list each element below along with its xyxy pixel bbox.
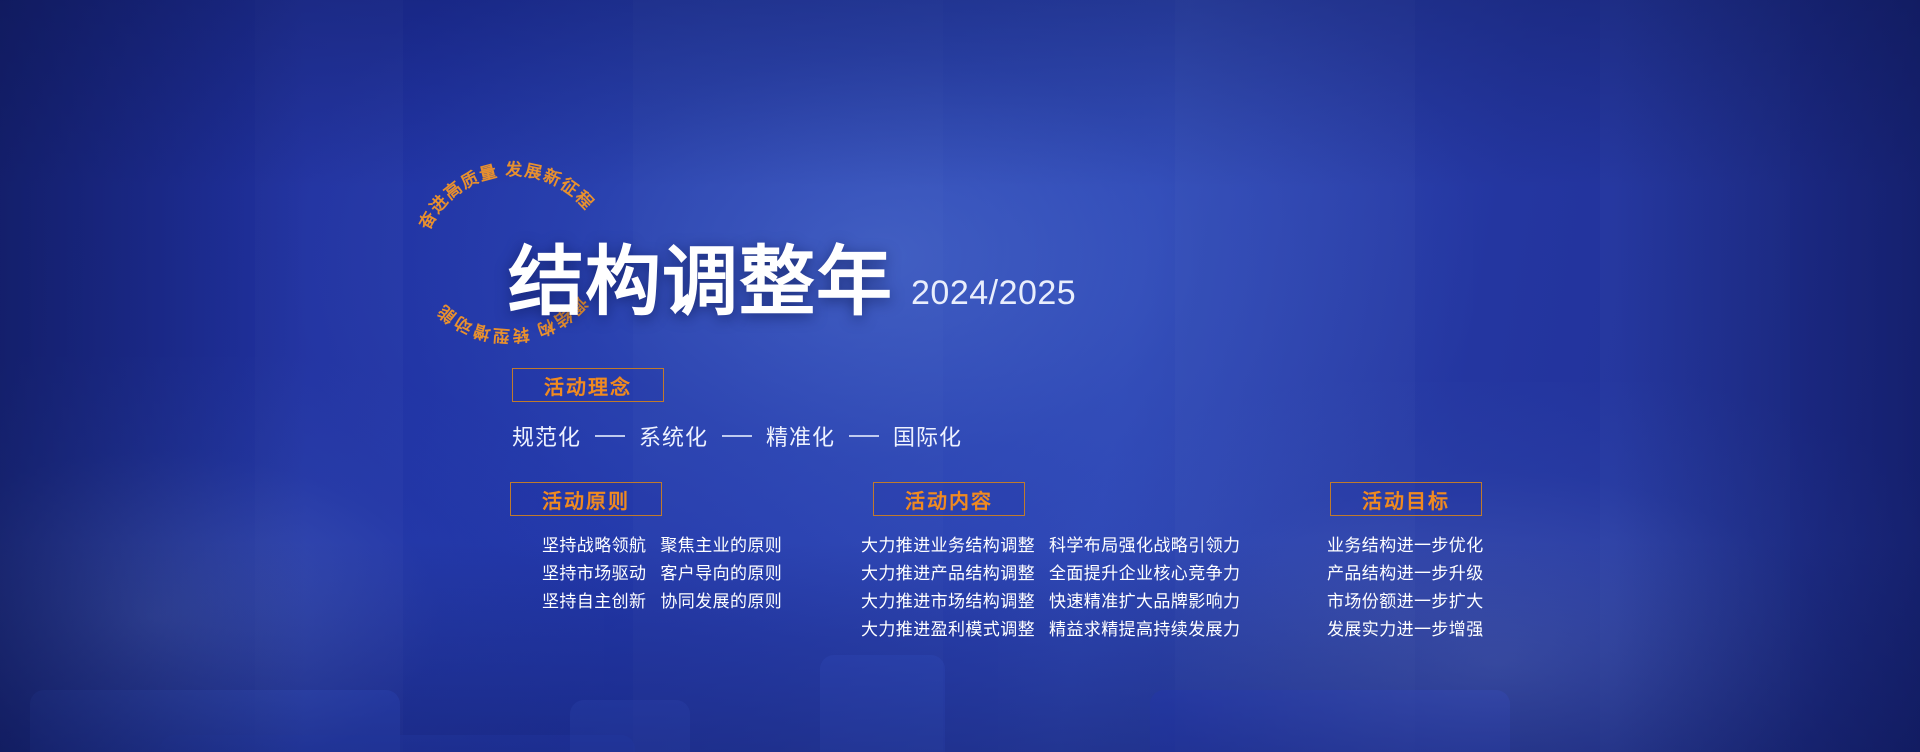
list-item: 业务结构进一步优化 [1327, 532, 1484, 560]
goal-text: 业务结构进一步优化 [1327, 532, 1484, 560]
goal-text: 产品结构进一步升级 [1327, 560, 1484, 588]
ring-text-top: 奋进高质量 发展新征程 [414, 159, 598, 233]
concept-item-3: 国际化 [893, 420, 962, 452]
content-left: 大力推进盈利模式调整 [861, 616, 1035, 644]
list-item: 大力推进产品结构调整 全面提升企业核心竞争力 [861, 560, 1240, 588]
concept-item-2: 精准化 [766, 420, 835, 452]
principle-left: 坚持战略领航 [542, 532, 646, 560]
principle-right: 协同发展的原则 [660, 588, 782, 616]
column-goals: 业务结构进一步优化 产品结构进一步升级 市场份额进一步扩大 发展实力进一步增强 [1327, 532, 1484, 644]
badge-principles: 活动原则 [510, 482, 662, 516]
content-left: 大力推进产品结构调整 [861, 560, 1035, 588]
content-right: 全面提升企业核心竞争力 [1049, 560, 1240, 588]
principle-right: 聚焦主业的原则 [660, 532, 782, 560]
badge-idea: 活动理念 [512, 368, 664, 402]
concept-list: 规范化 系统化 精准化 国际化 [512, 420, 962, 452]
title-row: 结构调整年 2024/2025 [508, 244, 1076, 320]
badge-content: 活动内容 [873, 482, 1025, 516]
list-item: 产品结构进一步升级 [1327, 560, 1484, 588]
banner-root: 奋进高质量 发展新征程 调结构 转型增动能 结构调整年 2024/2025 活动… [0, 0, 1920, 752]
content-left: 大力推进业务结构调整 [861, 532, 1035, 560]
concept-item-0: 规范化 [512, 420, 581, 452]
principle-left: 坚持市场驱动 [542, 560, 646, 588]
principle-left: 坚持自主创新 [542, 588, 646, 616]
page-title: 结构调整年 [508, 244, 893, 320]
concept-separator-icon [595, 435, 625, 437]
column-content: 大力推进业务结构调整 科学布局强化战略引领力 大力推进产品结构调整 全面提升企业… [861, 532, 1240, 644]
list-item: 大力推进业务结构调整 科学布局强化战略引领力 [861, 532, 1240, 560]
goal-text: 市场份额进一步扩大 [1327, 588, 1484, 616]
concept-item-1: 系统化 [639, 420, 708, 452]
list-item: 大力推进盈利模式调整 精益求精提高持续发展力 [861, 616, 1240, 644]
concept-separator-icon [722, 435, 752, 437]
content-left: 大力推进市场结构调整 [861, 588, 1035, 616]
badge-goals: 活动目标 [1330, 482, 1482, 516]
goal-text: 发展实力进一步增强 [1327, 616, 1484, 644]
list-item: 市场份额进一步扩大 [1327, 588, 1484, 616]
column-principles: 坚持战略领航 聚焦主业的原则 坚持市场驱动 客户导向的原则 坚持自主创新 协同发… [542, 532, 782, 616]
list-item: 坚持市场驱动 客户导向的原则 [542, 560, 782, 588]
list-item: 发展实力进一步增强 [1327, 616, 1484, 644]
list-item: 坚持战略领航 聚焦主业的原则 [542, 532, 782, 560]
list-item: 大力推进市场结构调整 快速精准扩大品牌影响力 [861, 588, 1240, 616]
principle-right: 客户导向的原则 [660, 560, 782, 588]
content-right: 科学布局强化战略引领力 [1049, 532, 1240, 560]
content-right: 快速精准扩大品牌影响力 [1049, 588, 1240, 616]
title-year-range: 2024/2025 [911, 274, 1076, 320]
list-item: 坚持自主创新 协同发展的原则 [542, 588, 782, 616]
content-right: 精益求精提高持续发展力 [1049, 616, 1240, 644]
concept-separator-icon [849, 435, 879, 437]
